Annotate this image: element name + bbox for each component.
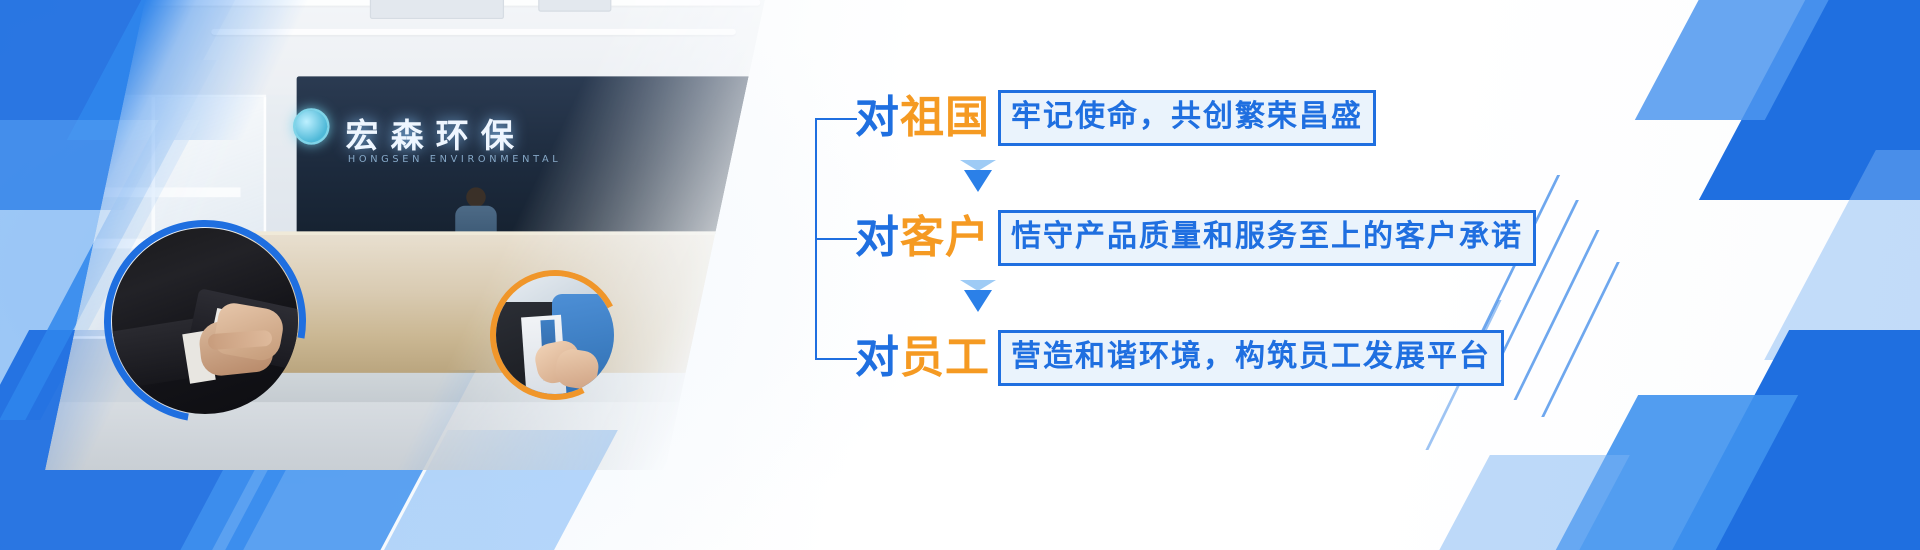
meeting-hands-photo	[496, 276, 614, 394]
company-logo-icon	[293, 108, 330, 145]
values-list: 对 祖国 牢记使命，共创繁荣昌盛 对 客户 恄守产品质量和服务至上的客户承诺 对…	[760, 78, 1560, 398]
value-lead-prefix-2: 对	[855, 206, 900, 270]
bracket-arm-3	[815, 358, 857, 360]
value-lead-subject-3: 员工	[900, 326, 990, 390]
value-statement-2: 恄守产品质量和服务至上的客户承诺	[998, 210, 1536, 266]
value-statement-1: 牢记使命，共创繁荣昌盛	[998, 90, 1376, 146]
company-values-banner: 宏森环保 HONGSEN ENVIRONMENTAL	[0, 0, 1920, 550]
handshake-photo	[112, 228, 298, 414]
value-lead-subject-2: 客户	[900, 206, 990, 270]
value-statement-3: 营造和谐环境，构筑员工发展平台	[998, 330, 1504, 386]
value-lead-subject-1: 祖国	[900, 86, 990, 150]
value-row-country: 对 祖国 牢记使命，共创繁荣昌盛	[855, 86, 1376, 150]
company-name-sign: 宏森环保	[345, 109, 526, 157]
bracket-arm-2	[815, 238, 857, 240]
value-lead-prefix-1: 对	[855, 86, 900, 150]
value-row-customer: 对 客户 恄守产品质量和服务至上的客户承诺	[855, 206, 1536, 270]
value-row-employee: 对 员工 营造和谐环境，构筑员工发展平台	[855, 326, 1504, 390]
bracket-arm-1	[815, 118, 857, 120]
value-lead-prefix-3: 对	[855, 326, 900, 390]
company-name-subtitle: HONGSEN ENVIRONMENTAL	[348, 153, 562, 164]
